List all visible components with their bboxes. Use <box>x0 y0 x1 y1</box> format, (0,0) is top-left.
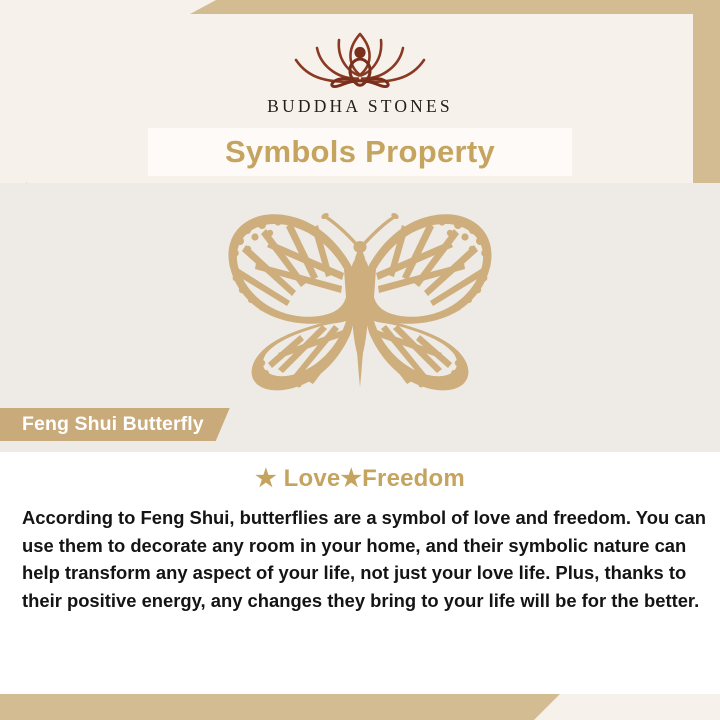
infographic-card: BUDDHA STONES Symbols Property <box>0 0 720 720</box>
frame-band-top <box>190 0 720 14</box>
description-panel: ★ Love★Freedom According to Feng Shui, b… <box>0 452 720 694</box>
tag-label: Feng Shui Butterfly <box>22 413 204 436</box>
description-heading: ★ Love★Freedom <box>0 464 720 493</box>
butterfly-icon <box>200 201 520 401</box>
frame-band-bottom <box>0 694 560 720</box>
butterfly-illustration <box>200 201 520 401</box>
title-bar: Symbols Property <box>148 128 572 176</box>
description-body: According to Feng Shui, butterflies are … <box>0 504 720 614</box>
lotus-meditation-icon <box>282 28 438 90</box>
feng-shui-butterfly-tag: Feng Shui Butterfly <box>0 408 230 441</box>
page-title: Symbols Property <box>225 134 495 170</box>
brand-header: BUDDHA STONES <box>27 14 693 124</box>
brand-wordmark: BUDDHA STONES <box>267 96 453 117</box>
